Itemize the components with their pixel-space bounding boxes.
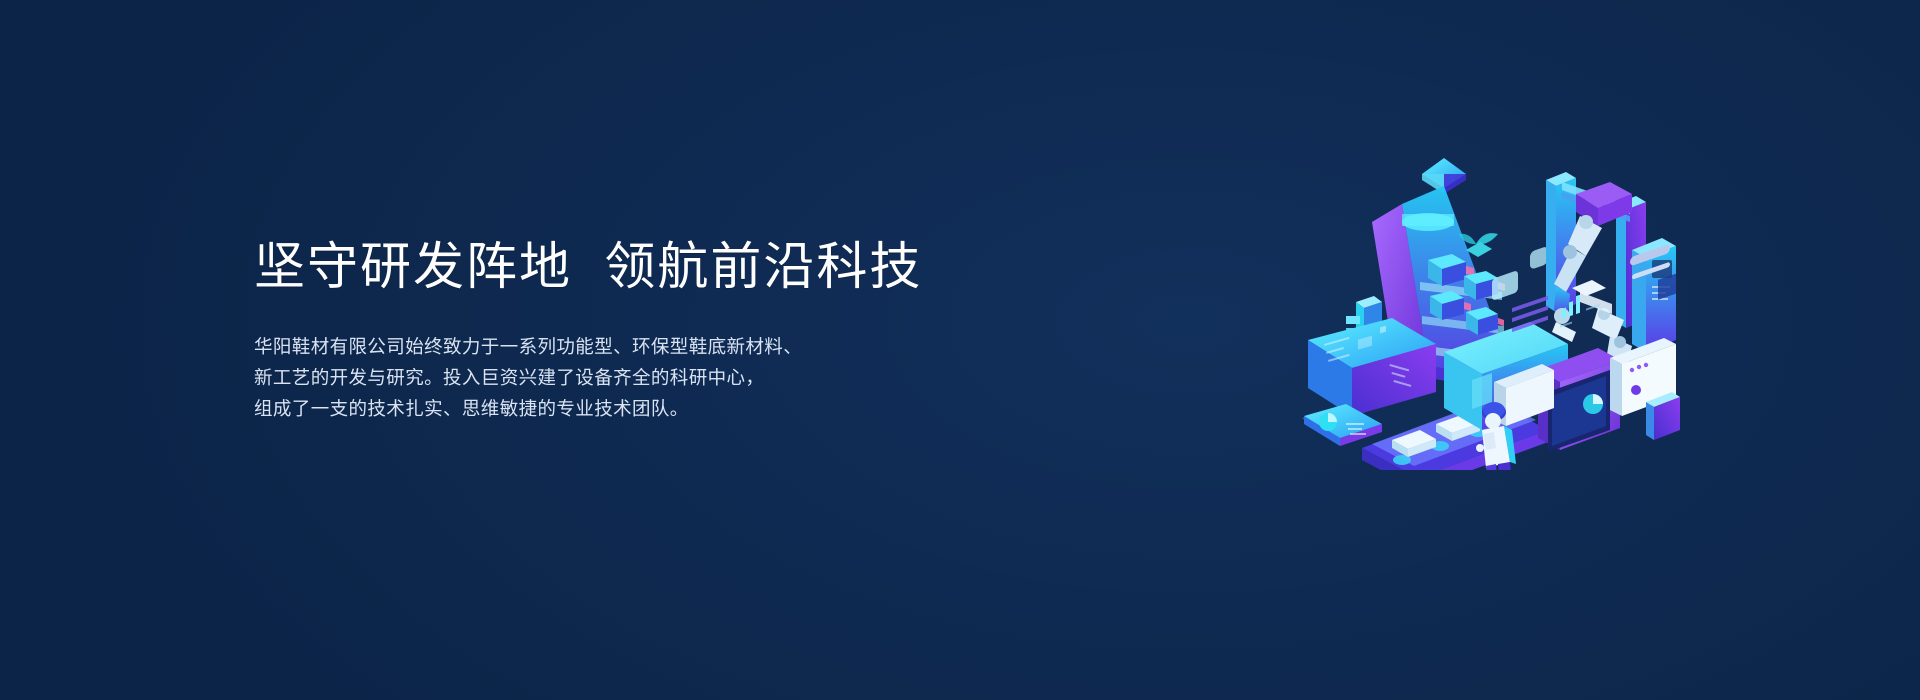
banner-description: 华阳鞋材有限公司始终致力于一系列功能型、环保型鞋底新材料、 新工艺的开发与研究。…: [254, 331, 1034, 424]
description-line-2: 新工艺的开发与研究。投入巨资兴建了设备齐全的科研中心，: [254, 362, 1034, 393]
page-title: 坚守研发阵地 领航前沿科技: [254, 238, 1034, 297]
description-line-1: 华阳鞋材有限公司始终致力于一系列功能型、环保型鞋底新材料、: [254, 331, 1034, 362]
hero-banner: 坚守研发阵地 领航前沿科技 华阳鞋材有限公司始终致力于一系列功能型、环保型鞋底新…: [0, 0, 1920, 700]
isometric-factory-illustration: [1280, 130, 1680, 470]
server-rack-box: [1308, 318, 1436, 416]
banner-text-block: 坚守研发阵地 领航前沿科技 华阳鞋材有限公司始终致力于一系列功能型、环保型鞋底新…: [254, 238, 1034, 424]
description-line-3: 组成了一支的技术扎实、思维敏捷的专业技术团队。: [254, 393, 1034, 424]
